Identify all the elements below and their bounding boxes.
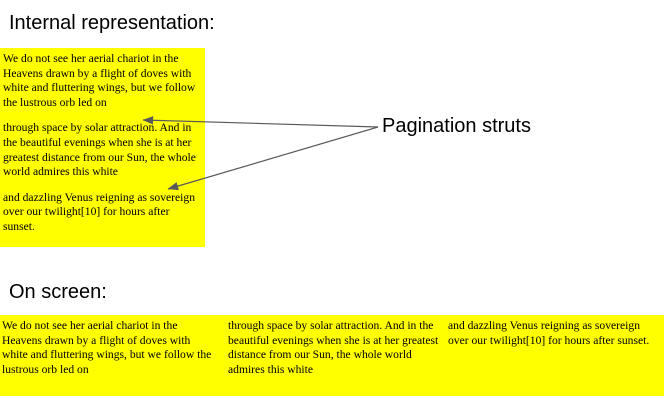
on-screen-heading: On screen: <box>9 280 107 304</box>
internal-representation-heading: Internal representation: <box>9 11 215 35</box>
on-screen-text-block: We do not see her aerial chariot in the … <box>0 315 664 396</box>
internal-paragraph-3: and dazzling Venus reigning as sovereign… <box>3 191 202 235</box>
internal-representation-text-block: We do not see her aerial chariot in the … <box>0 48 205 247</box>
on-screen-column-2: through space by solar attraction. And i… <box>228 319 443 377</box>
internal-paragraph-1: We do not see her aerial chariot in the … <box>3 52 202 110</box>
on-screen-column-1: We do not see her aerial chariot in the … <box>2 319 217 377</box>
pagination-strut-1 <box>3 110 202 121</box>
pagination-struts-label: Pagination struts <box>382 114 531 138</box>
internal-paragraph-2: through space by solar attraction. And i… <box>3 121 202 179</box>
on-screen-column-3: and dazzling Venus reigning as sovereign… <box>448 319 663 348</box>
pagination-strut-2 <box>3 180 202 191</box>
